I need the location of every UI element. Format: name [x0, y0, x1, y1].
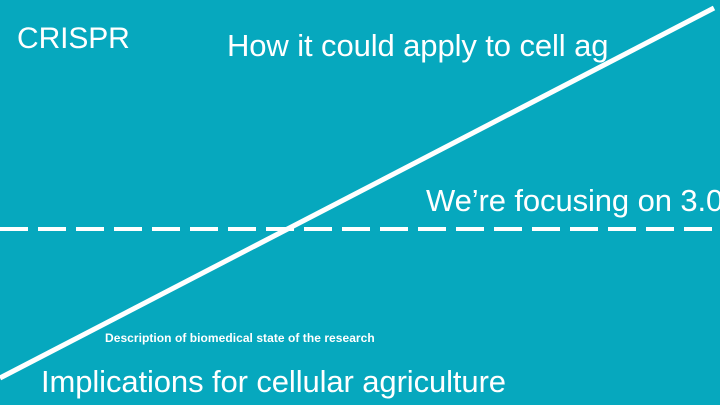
- corner-label: CRISPR: [17, 24, 130, 54]
- caption-small-label: Description of biomedical state of the r…: [105, 332, 375, 344]
- focus-note-label: We’re focusing on 3.0: [426, 185, 720, 216]
- slide-title: How it could apply to cell ag: [227, 30, 608, 61]
- bottom-label: Implications for cellular agriculture: [41, 366, 506, 397]
- slide-canvas: CRISPR How it could apply to cell ag We’…: [0, 0, 720, 405]
